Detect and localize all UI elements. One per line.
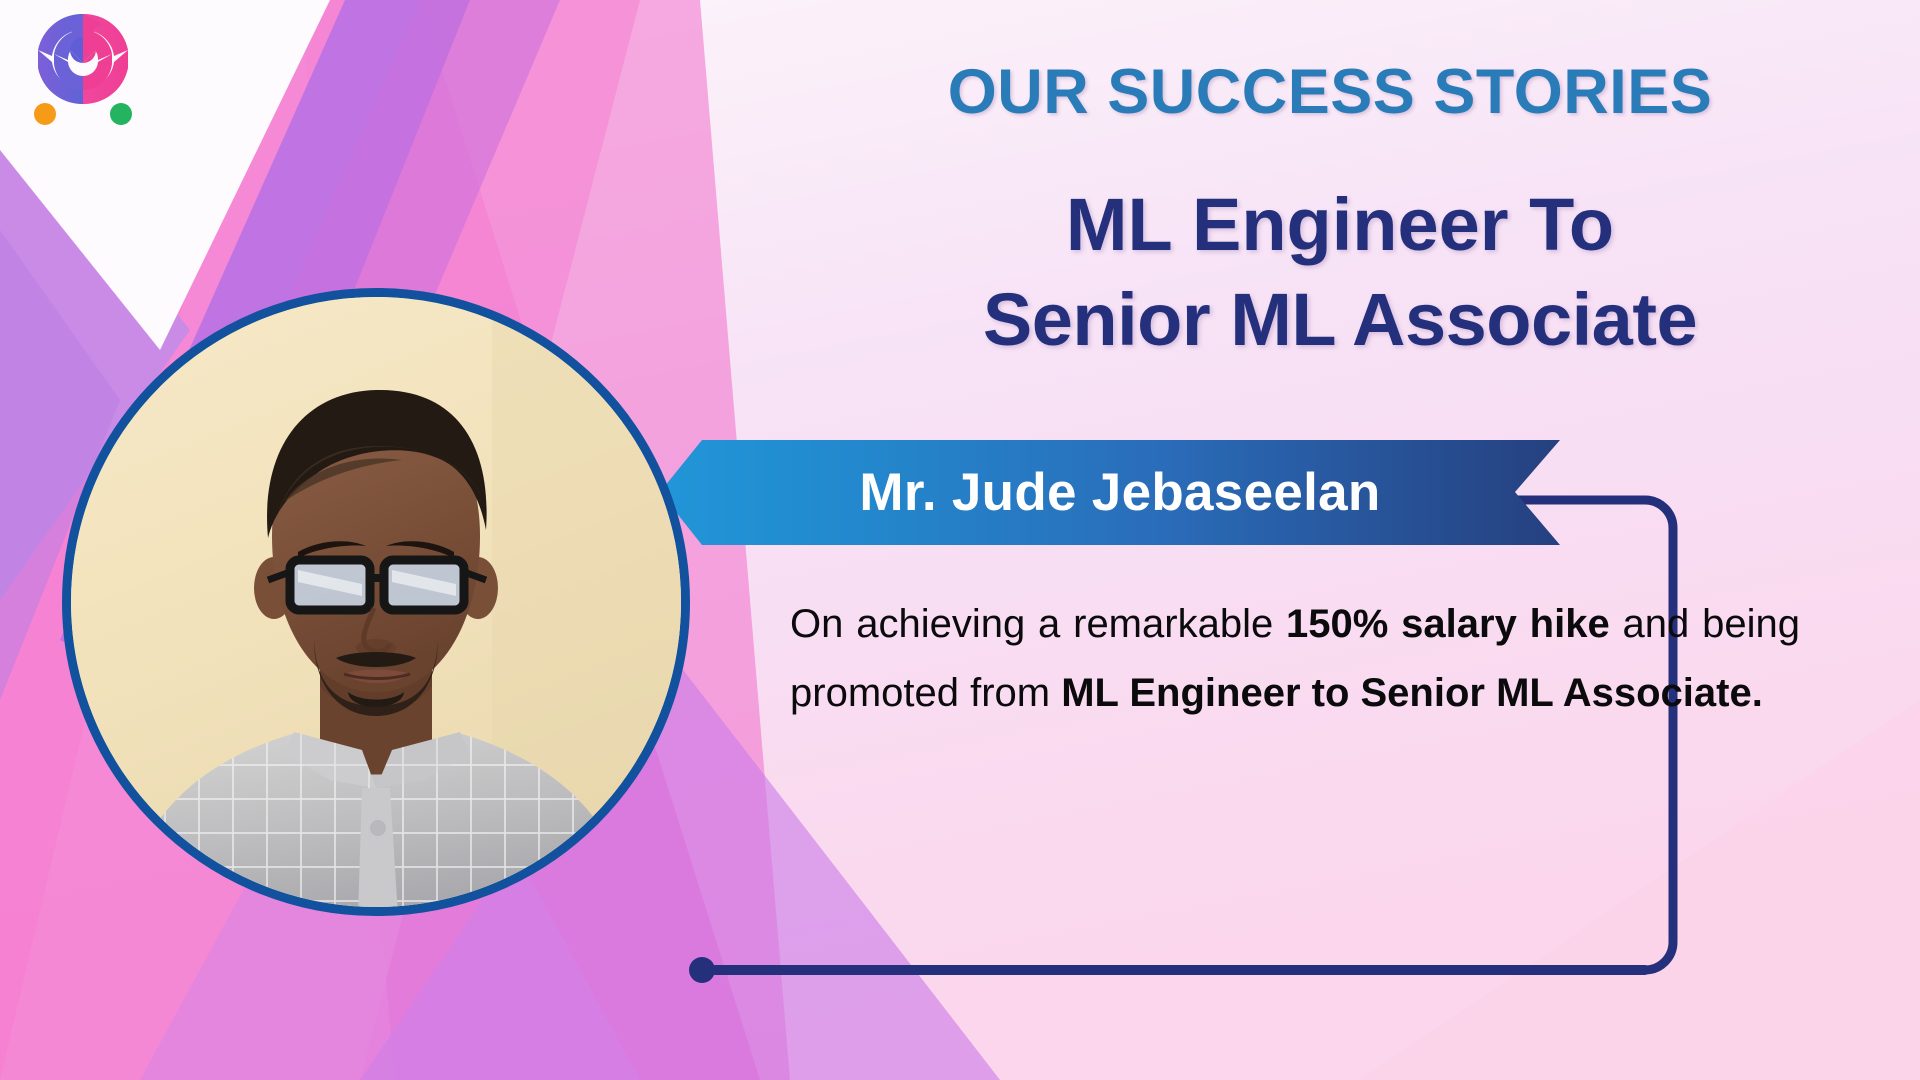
section-eyebrow: OUR SUCCESS STORIES	[890, 56, 1770, 128]
person-name-ribbon: Mr. Jude Jebaseelan	[660, 440, 1560, 545]
brand-logo	[28, 8, 138, 126]
desc-part-1: On achieving a remarkable	[790, 602, 1286, 646]
page-title-line-1: ML Engineer To	[780, 178, 1900, 273]
page-title-line-2: Senior ML Associate	[780, 273, 1900, 368]
person-name: Mr. Jude Jebaseelan	[660, 440, 1560, 545]
bracket-decoration	[610, 490, 1730, 990]
desc-highlight-2: ML Engineer to Senior ML Associate.	[1061, 671, 1763, 715]
story-content: OUR SUCCESS STORIES ML Engineer To Senio…	[760, 0, 1920, 1080]
page-title: ML Engineer To Senior ML Associate	[780, 178, 1900, 367]
graduation-arcs-logo-icon	[28, 8, 138, 126]
avatar	[62, 288, 690, 916]
achievement-description: On achieving a remarkable 150% salary hi…	[790, 590, 1800, 728]
bracket-end-dot	[689, 957, 715, 983]
avatar-ring	[62, 288, 690, 916]
desc-highlight-1: 150% salary hike	[1286, 602, 1610, 646]
portrait-photo	[62, 288, 690, 916]
